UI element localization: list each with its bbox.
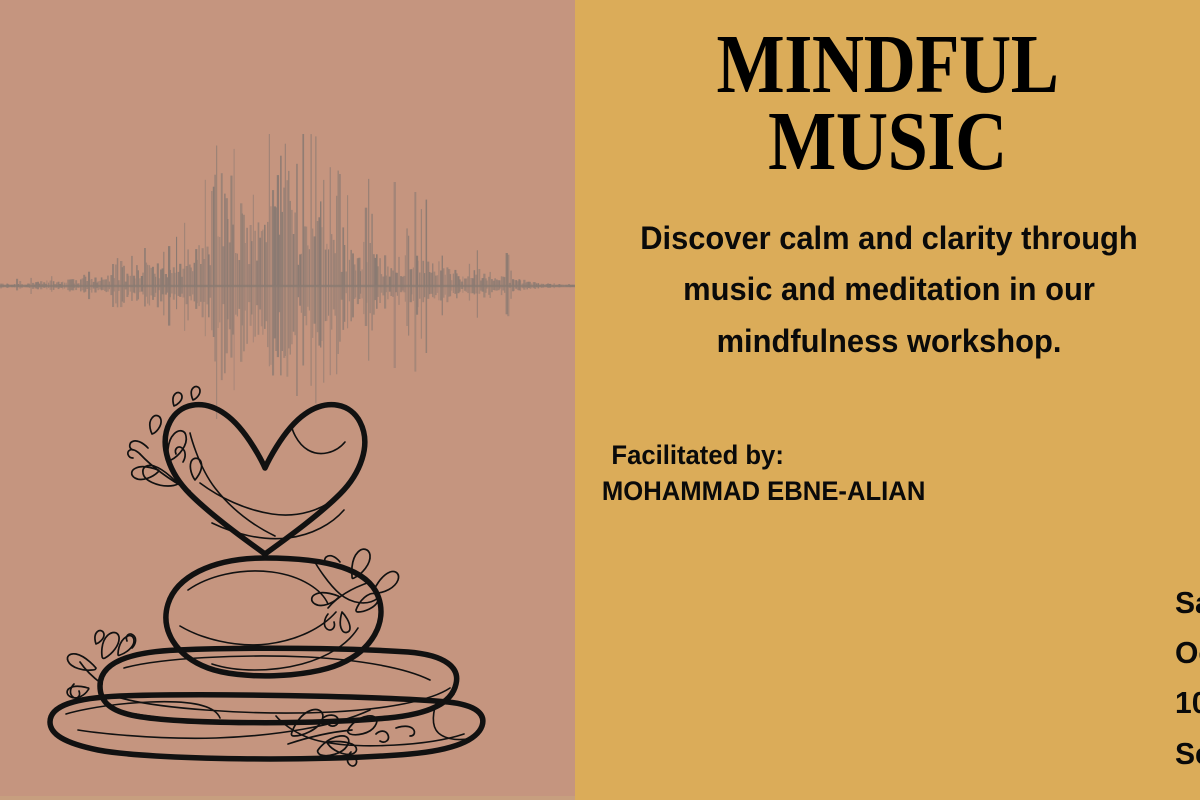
left-artwork-panel: [0, 0, 575, 800]
event-details-block: Saturday October 18, 2025 10-11 am Seatt…: [1175, 578, 1200, 779]
subtitle-text: Discover calm and clarity through music …: [608, 213, 1170, 367]
page-title: MINDFUL MUSIC: [619, 26, 1157, 181]
facilitator-block: Facilitated by: MOHAMMAD EBNE-ALIAN: [600, 438, 1161, 509]
bottom-accent-strip: [0, 796, 575, 800]
title-line-1: MINDFUL: [619, 26, 1157, 103]
facilitator-name: MOHAMMAD EBNE-ALIAN: [600, 474, 1161, 510]
facilitator-label: Facilitated by:: [600, 438, 1161, 474]
event-date: October 18, 2025: [1175, 628, 1200, 678]
right-content-panel: MINDFUL MUSIC Discover calm and clarity …: [575, 0, 1200, 800]
leaf-sprig: [312, 549, 399, 632]
event-day: Saturday: [1175, 578, 1200, 628]
event-time: 10-11 am: [1175, 678, 1200, 728]
wide-flat-stone: [100, 648, 457, 723]
title-line-2: MUSIC: [619, 103, 1157, 180]
event-location: Seattle: [1175, 729, 1200, 779]
poster-canvas: MINDFUL MUSIC Discover calm and clarity …: [0, 0, 1200, 800]
base-flat-stone: [50, 695, 483, 759]
balanced-stones-illustration: [40, 338, 490, 786]
